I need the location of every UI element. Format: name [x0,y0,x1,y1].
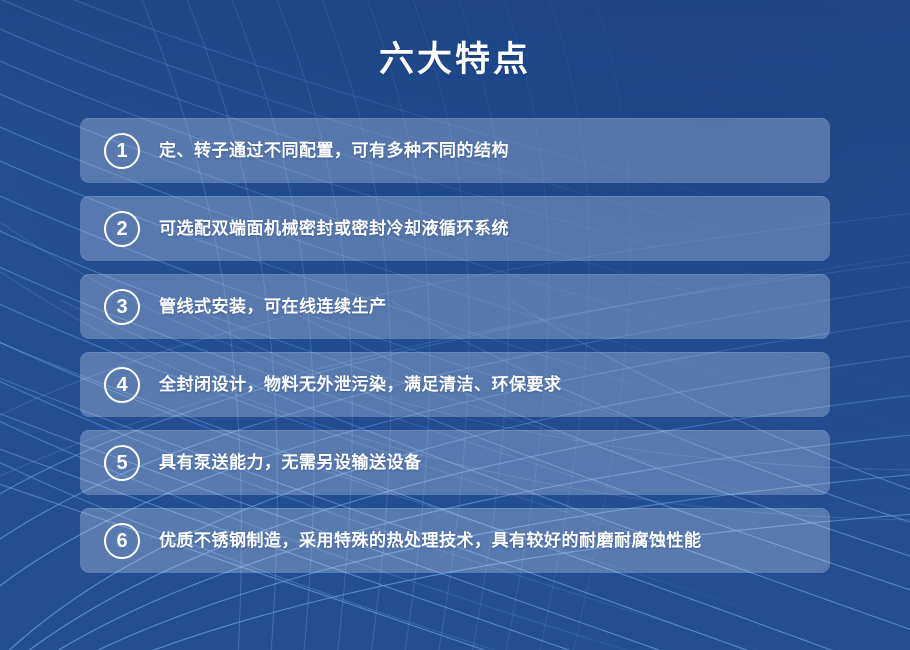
feature-text: 全封闭设计，物料无外泄污染，满足清洁、环保要求 [159,373,814,397]
feature-list: 1 定、转子通过不同配置，可有多种不同的结构 2 可选配双端面机械密封或密封冷却… [80,118,830,586]
circled-number-icon: 6 [104,523,140,559]
feature-text: 具有泵送能力，无需另设输送设备 [159,451,814,475]
feature-row[interactable]: 2 可选配双端面机械密封或密封冷却液循环系统 [80,196,830,261]
feature-text: 管线式安装，可在线连续生产 [159,295,814,319]
feature-row[interactable]: 4 全封闭设计，物料无外泄污染，满足清洁、环保要求 [80,352,830,417]
feature-row[interactable]: 1 定、转子通过不同配置，可有多种不同的结构 [80,118,830,183]
feature-row[interactable]: 6 优质不锈钢制造，采用特殊的热处理技术，具有较好的耐磨耐腐蚀性能 [80,508,830,573]
feature-text: 优质不锈钢制造，采用特殊的热处理技术，具有较好的耐磨耐腐蚀性能 [159,529,814,553]
circled-number-icon: 1 [104,133,140,169]
circled-number-icon: 4 [104,367,140,403]
feature-text: 定、转子通过不同配置，可有多种不同的结构 [159,139,814,163]
poster-canvas: 六大特点 1 定、转子通过不同配置，可有多种不同的结构 2 可选配双端面机械密封… [0,0,910,650]
circled-number-icon: 2 [104,211,140,247]
circled-number-icon: 3 [104,289,140,325]
feature-row[interactable]: 3 管线式安装，可在线连续生产 [80,274,830,339]
circled-number-icon: 5 [104,445,140,481]
feature-text: 可选配双端面机械密封或密封冷却液循环系统 [159,217,814,241]
page-title: 六大特点 [0,38,910,82]
feature-row[interactable]: 5 具有泵送能力，无需另设输送设备 [80,430,830,495]
